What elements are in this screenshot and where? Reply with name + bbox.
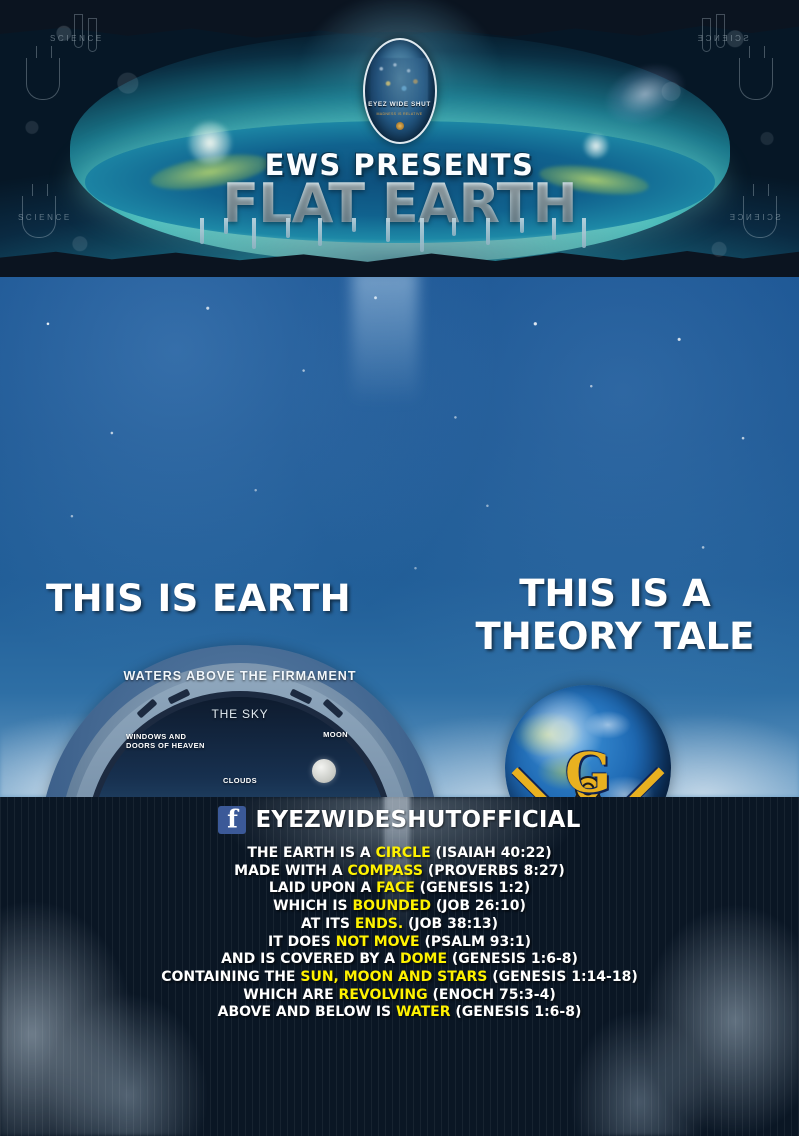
verse-line: WHICH IS BOUNDED (JOB 26:10) [0,898,799,916]
verse-reference: (GENESIS 1:2) [415,880,530,896]
comparison-section: THIS IS EARTH THIS IS A THEORY TALE [0,277,799,797]
verse-keyword: WATER [396,1004,450,1020]
verse-reference: (GENESIS 1:14-18) [487,969,637,985]
verse-keyword: NOT MOVE [336,934,420,950]
flask-icon [26,58,60,100]
moon-icon [312,759,336,783]
verse-reference: (PSALM 93:1) [420,934,531,950]
verse-text-pre: IT DOES [268,934,336,950]
verse-keyword: REVOLVING [339,987,428,1003]
verses-section: EYEZWIDESHUTOFFICIAL THE EARTH IS A CIRC… [0,797,799,1136]
label-waters-above-firmament: WATERS ABOVE THE FIRMAMENT [124,669,357,684]
masonic-globe-image: G [505,685,671,797]
verse-text-pre: AND IS COVERED BY A [221,951,400,967]
label-windows-line2: DOORS OF HEAVEN [126,741,205,750]
label-clouds: CLOUDS [223,777,257,786]
verse-reference: (JOB 26:10) [431,898,526,914]
verse-reference: (ENOCH 75:3-4) [428,987,556,1003]
science-watermark-label: SCIENCE [50,34,104,43]
verse-keyword: DOME [400,951,447,967]
right-heading-line1: THIS IS A [519,572,710,615]
verse-keyword: CIRCLE [376,845,431,861]
verse-line: MADE WITH A COMPASS (PROVERBS 8:27) [0,863,799,881]
masonic-letter-g: G [565,745,611,797]
verse-text-pre: WHICH ARE [243,987,338,1003]
verse-keyword: BOUNDED [353,898,431,914]
verse-line: AND IS COVERED BY A DOME (GENESIS 1:6-8) [0,951,799,969]
label-the-sky: THE SKY [212,707,269,721]
verse-text-pre: ABOVE AND BELOW IS [218,1004,396,1020]
verse-line: ABOVE AND BELOW IS WATER (GENESIS 1:6-8) [0,1004,799,1022]
verse-line: THE EARTH IS A CIRCLE (ISAIAH 40:22) [0,845,799,863]
right-heading-line2: THEORY TALE [476,615,755,658]
verse-line: IT DOES NOT MOVE (PSALM 93:1) [0,934,799,952]
verse-line: LAID UPON A FACE (GENESIS 1:2) [0,880,799,898]
verse-text-pre: LAID UPON A [269,880,376,896]
left-heading: THIS IS EARTH [46,577,406,620]
verse-keyword: SUN, MOON AND STARS [300,969,487,985]
label-moon: MOON [323,731,348,740]
verse-reference: (GENESIS 1:6-8) [450,1004,581,1020]
flat-earth-infographic-poster: SCIENCE SCIENCE SCIENCE SCIENCE EYEZ WID… [0,0,799,1136]
science-watermark-label: SCIENCE [695,34,749,43]
facebook-icon[interactable] [218,806,246,834]
logo-text: EYEZ WIDE SHUT [365,101,435,108]
verse-line: CONTAINING THE SUN, MOON AND STARS (GENE… [0,969,799,987]
logo-artwork [371,58,428,107]
verse-line: AT ITS ENDS. (JOB 38:13) [0,916,799,934]
ews-logo[interactable]: EYEZ WIDE SHUT MADNESS IS RELATIVE [363,38,437,144]
verse-keyword: FACE [376,880,415,896]
header-banner: SCIENCE SCIENCE SCIENCE SCIENCE EYEZ WID… [0,0,799,277]
verse-text-pre: WHICH IS [273,898,352,914]
verse-text-pre: CONTAINING THE [161,969,300,985]
verse-list: THE EARTH IS A CIRCLE (ISAIAH 40:22)MADE… [0,845,799,1022]
verse-text-pre: AT ITS [301,916,355,932]
label-windows-line1: WINDOWS AND [126,732,186,741]
verse-text-pre: MADE WITH A [234,863,347,879]
facebook-handle-text: EYEZWIDESHUTOFFICIAL [255,807,580,833]
verse-keyword: COMPASS [347,863,422,879]
logo-subtext: MADNESS IS RELATIVE [365,112,435,116]
verse-reference: (ISAIAH 40:22) [431,845,552,861]
header-main-title: FLAT EARTH [0,172,799,235]
verse-keyword: ENDS. [355,916,403,932]
verse-line: WHICH ARE REVOLVING (ENOCH 75:3-4) [0,987,799,1005]
flask-icon [739,58,773,100]
verse-reference: (JOB 38:13) [403,916,498,932]
logo-emblem-icon [396,122,404,130]
light-beam [352,277,418,439]
flat-earth-cosmology-diagram: WATERS ABOVE THE FIRMAMENT THE SKY WINDO… [40,645,440,797]
facebook-handle-row[interactable]: EYEZWIDESHUTOFFICIAL [0,806,799,834]
right-heading: THIS IS A THEORY TALE [445,573,785,659]
verse-reference: (PROVERBS 8:27) [423,863,565,879]
verse-text-pre: THE EARTH IS A [247,845,375,861]
label-windows-of-heaven: WINDOWS AND DOORS OF HEAVEN [126,733,205,751]
verse-reference: (GENESIS 1:6-8) [447,951,578,967]
